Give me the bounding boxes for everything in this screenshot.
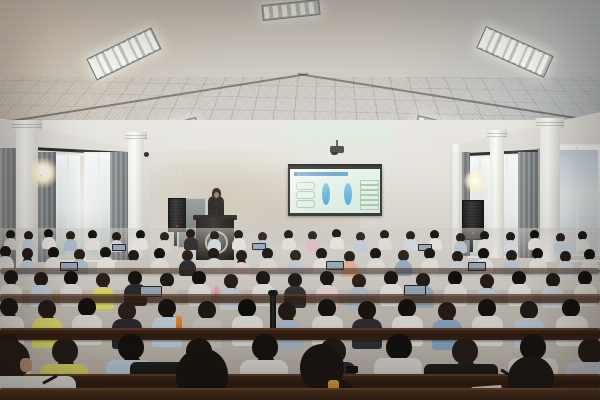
projector-lens — [331, 152, 338, 155]
capital-groove — [12, 127, 42, 128]
column-capital-left-1 — [12, 120, 42, 130]
capital-groove — [125, 138, 147, 139]
lecture-hall-photo — [0, 0, 600, 400]
presentation-slide — [290, 169, 380, 213]
laptop — [112, 244, 126, 251]
presenter-face — [214, 192, 219, 198]
slide-glare — [290, 169, 380, 213]
column-capital-right-2 — [536, 118, 564, 128]
seated-audience — [0, 228, 600, 400]
column-capital-right-1 — [487, 130, 507, 138]
capital-groove — [536, 125, 564, 126]
wall-sconce-right — [471, 177, 479, 185]
curtain-rod-knob-left — [144, 152, 149, 157]
speaker-led — [176, 225, 178, 227]
bench-row-near-mid — [0, 328, 600, 340]
bench-row-far — [0, 268, 600, 274]
bench-foreground — [0, 388, 600, 400]
column-capital-left-2 — [125, 132, 147, 140]
mobile-phone — [346, 366, 358, 373]
capital-groove — [12, 124, 42, 125]
pa-speaker-left — [168, 198, 186, 232]
capital-groove — [487, 136, 507, 137]
wall-sconce-left — [38, 166, 48, 176]
ceiling-warm-light-cast — [0, 0, 300, 140]
stanchion-cap — [268, 290, 278, 296]
capital-groove — [125, 135, 147, 136]
capital-groove — [487, 133, 507, 134]
projection-screen — [288, 166, 382, 216]
capital-groove — [536, 122, 564, 123]
